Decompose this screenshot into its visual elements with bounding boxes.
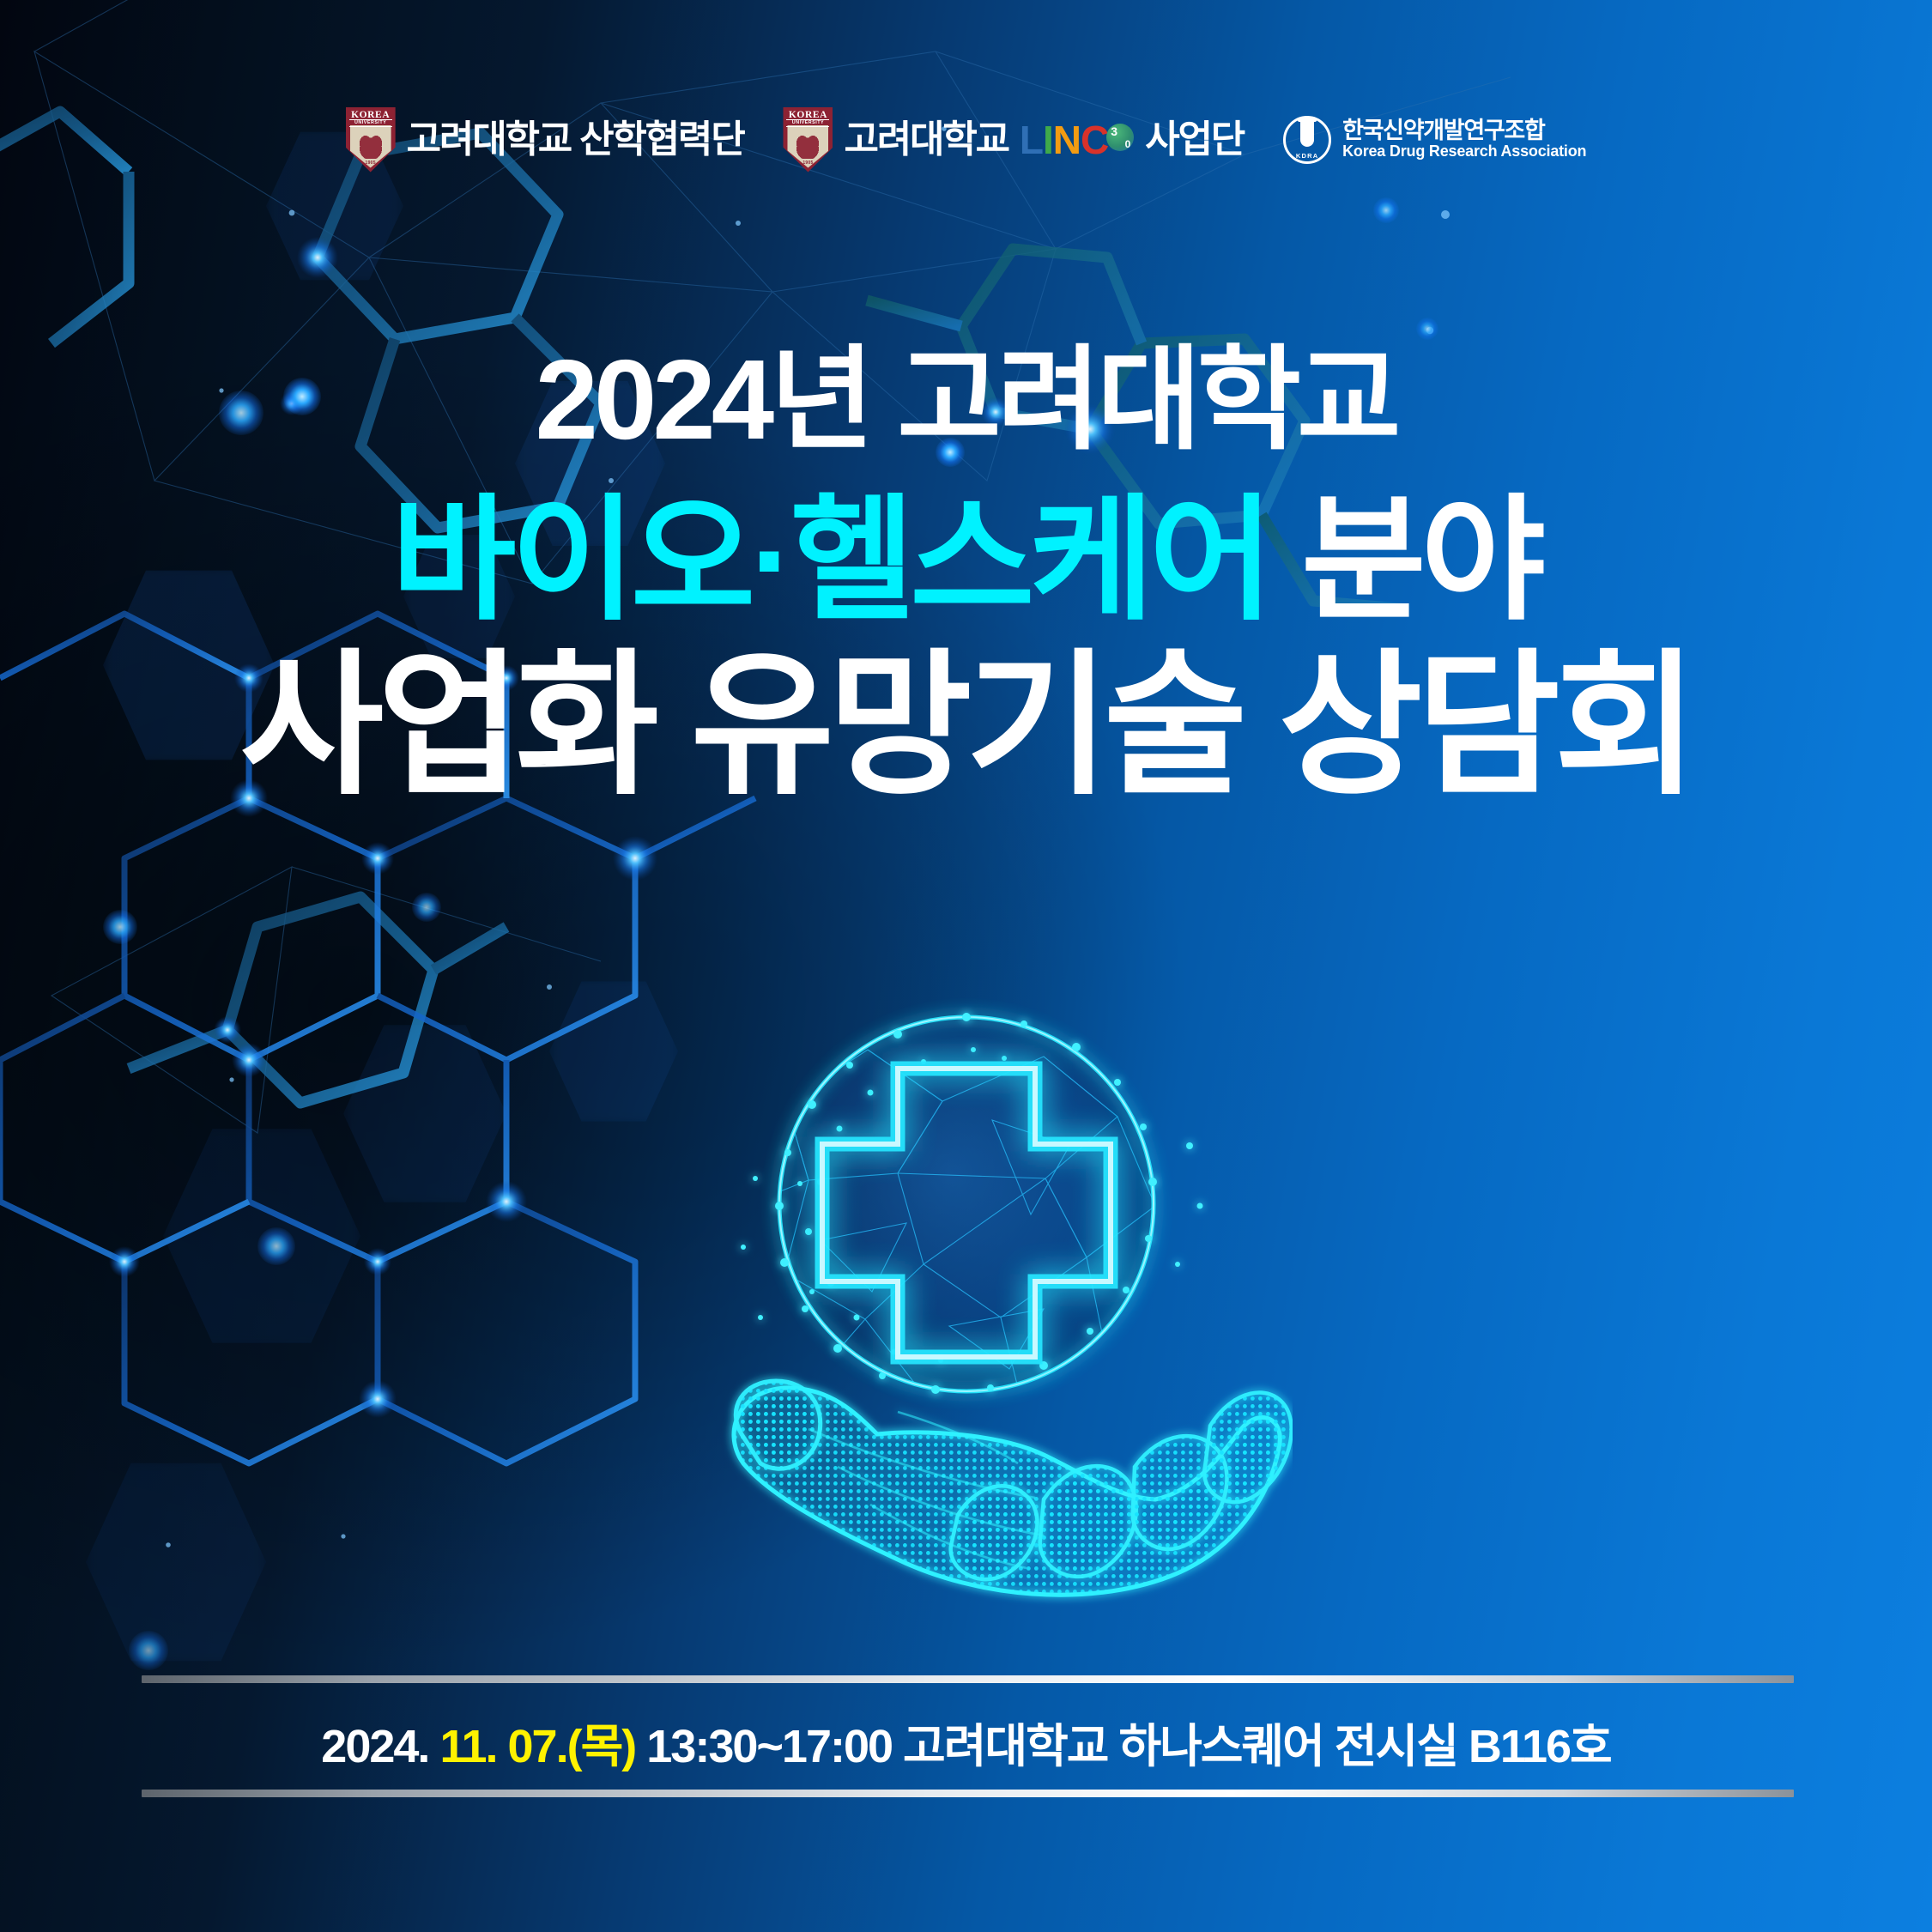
kdra-label-block: 한국신약개발연구조합 Korea Drug Research Associati… <box>1342 118 1586 160</box>
logo-korea-university-iacf: KOREA UNIVERSITY 1905 고려대학교 산학협력단 <box>346 107 744 173</box>
bokeh-hexagon <box>343 1021 506 1206</box>
event-poster: KOREA UNIVERSITY 1905 고려대학교 산학협력단 KOREA … <box>0 0 1932 1932</box>
shield-year-text: 1905 <box>346 160 396 166</box>
title-highlight-bio-healthcare: 바이오·헬스케어 <box>391 485 1269 636</box>
korea-university-shield-icon: KOREA UNIVERSITY 1905 <box>346 107 396 173</box>
bokeh-hexagon <box>163 1124 360 1348</box>
shield-university-text: UNIVERSITY <box>786 119 829 127</box>
footer-rule-top <box>142 1675 1794 1683</box>
logo-korea-university-linc30: KOREA UNIVERSITY 1905 고려대학교 L I N C 3 0 … <box>783 107 1244 173</box>
footer-venue: 고려대학교 하나스퀘어 전시실 B116호 <box>903 1721 1611 1772</box>
linc-letter-c: C <box>1081 120 1108 160</box>
logo-korea-drug-research-association: KDRA 한국신약개발연구조합 Korea Drug Research Asso… <box>1283 116 1586 164</box>
glow-dot <box>257 1227 295 1265</box>
central-illustration <box>640 948 1293 1635</box>
title-line-3: 사업화 유망기술 상담회 <box>0 647 1932 803</box>
kdra-mark-text: KDRA <box>1283 152 1331 160</box>
globe-cross-hand-graphic <box>640 948 1293 1635</box>
glow-dot <box>1416 318 1438 340</box>
event-details-line: 2024. 11. 07.(목) 13:30~17:00 고려대학교 하나스퀘어… <box>0 1708 1932 1776</box>
shield-year-text: 1905 <box>783 160 833 166</box>
logo-label-linc-suffix: 사업단 <box>1145 121 1244 159</box>
logo-label-iacf: 고려대학교 산학협력단 <box>407 121 744 159</box>
tiger-crest-icon <box>793 133 822 159</box>
linc-letter-i: I <box>1043 120 1053 160</box>
kdra-label-en: Korea Drug Research Association <box>1342 142 1586 160</box>
kdra-label-kr: 한국신약개발연구조합 <box>1342 118 1586 142</box>
footer-year: 2024. <box>321 1721 428 1772</box>
title-line-2: 바이오·헬스케어 분야 <box>0 493 1932 628</box>
tiger-crest-icon <box>356 133 385 159</box>
shield-university-text: UNIVERSITY <box>349 119 392 127</box>
poster-title-block: 2024년 고려대학교 바이오·헬스케어 분야 사업화 유망기술 상담회 <box>0 343 1932 803</box>
linc-letter-l: L <box>1020 120 1043 160</box>
title-line-1: 2024년 고려대학교 <box>0 343 1932 457</box>
linc-wordmark-icon: L I N C 3 0 <box>1020 120 1134 160</box>
linc-version-badge-icon: 3 0 <box>1106 124 1134 151</box>
footer-rule-bottom <box>142 1790 1794 1797</box>
wireframe-hand-icon <box>734 1381 1292 1595</box>
glow-dot <box>412 893 441 922</box>
sponsor-logo-row: KOREA UNIVERSITY 1905 고려대학교 산학협력단 KOREA … <box>0 94 1932 185</box>
title-line-2-suffix: 분야 <box>1301 485 1541 636</box>
glow-dot <box>103 910 137 944</box>
logo-label-ku: 고려대학교 <box>844 121 1008 159</box>
glow-dot <box>1373 197 1399 223</box>
linc-letter-n: N <box>1053 120 1081 160</box>
bokeh-hexagon <box>86 1459 266 1665</box>
kdra-capsule-icon: KDRA <box>1283 116 1331 164</box>
korea-university-shield-icon: KOREA UNIVERSITY 1905 <box>783 107 833 173</box>
footer-time: 13:30~17:00 <box>646 1721 892 1772</box>
footer-date-highlight: 11. 07.(목) <box>439 1721 635 1772</box>
linc-version-minor: 0 <box>1125 139 1130 149</box>
glow-dot <box>129 1631 168 1670</box>
linc-version-major: 3 <box>1111 125 1117 137</box>
